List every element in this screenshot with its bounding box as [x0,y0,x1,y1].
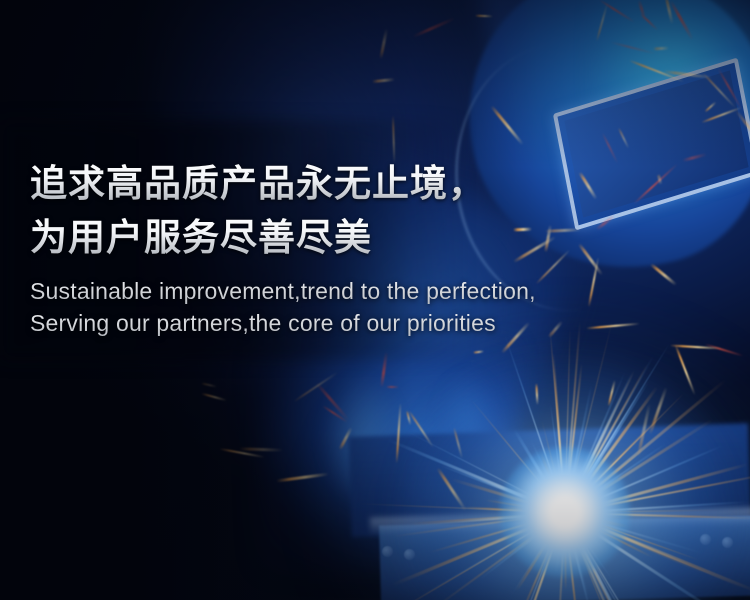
headline-line-2: 为用户服务尽善尽美 [30,211,710,265]
subheadline-line-2: Serving our partners,the core of our pri… [30,307,710,339]
subheadline-line-1: Sustainable improvement,trend to the per… [30,275,710,307]
welding-hero-banner: 追求高品质产品永无止境， 为用户服务尽善尽美 Sustainable impro… [0,0,750,600]
banner-copy: 追求高品质产品永无止境， 为用户服务尽善尽美 Sustainable impro… [30,157,710,339]
subheadline-block: Sustainable improvement,trend to the per… [30,275,710,339]
headline-line-1: 追求高品质产品永无止境， [30,157,710,211]
